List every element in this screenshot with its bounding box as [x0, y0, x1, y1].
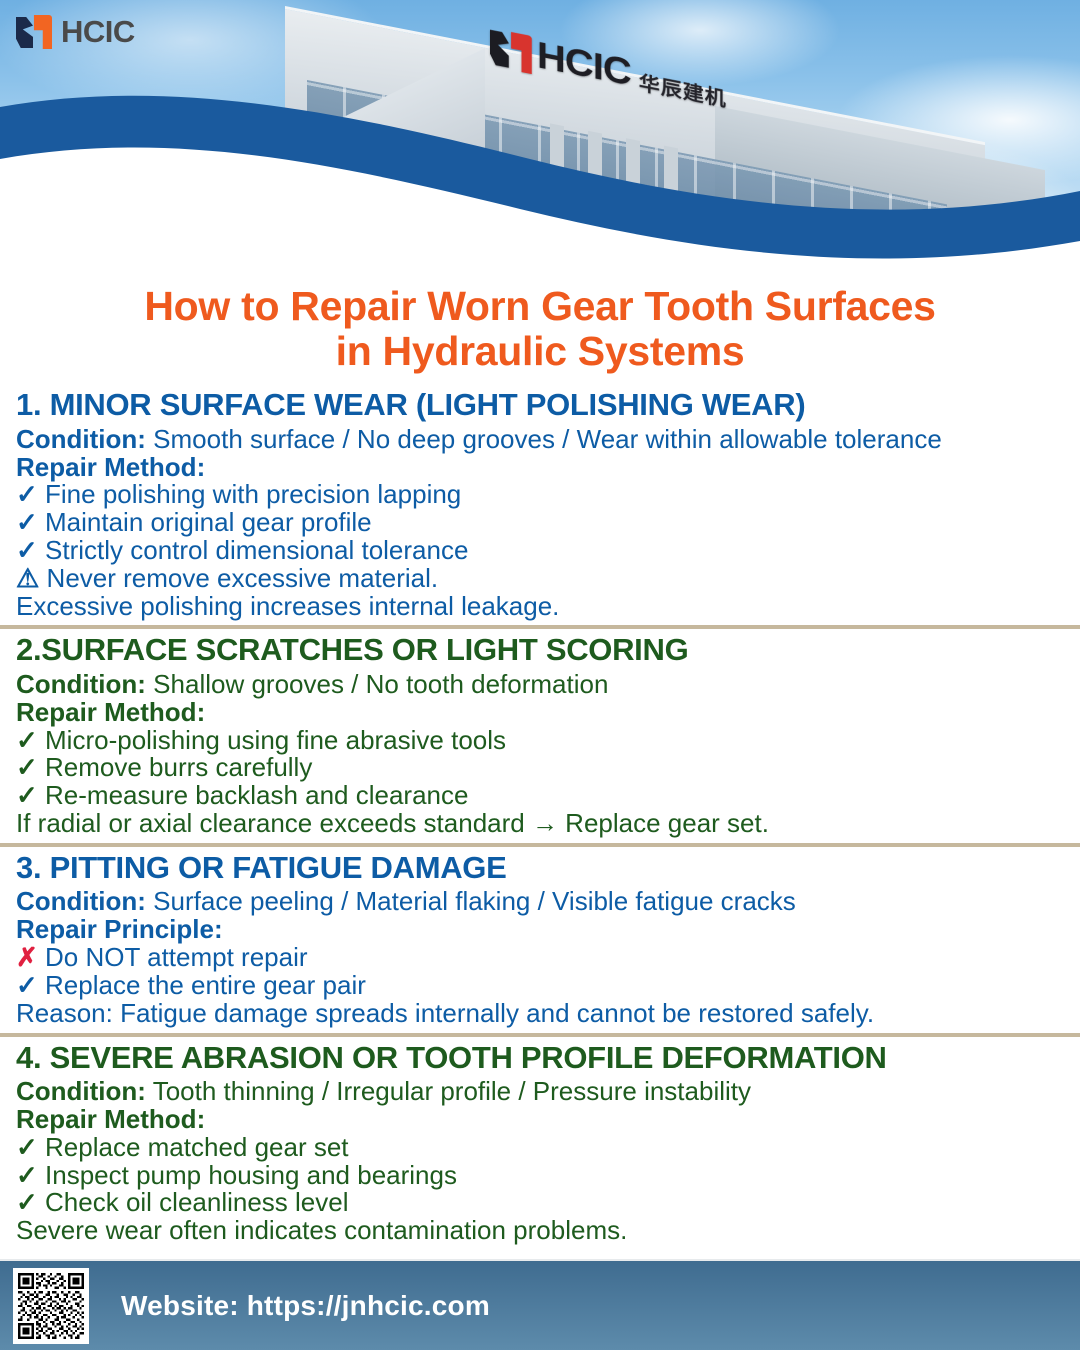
method-item-text: Replace the entire gear pair	[38, 970, 366, 1000]
method-line: Repair Principle:	[16, 916, 1066, 944]
method-item: ✓ Maintain original gear profile	[16, 509, 1066, 537]
method-item: ✓ Replace the entire gear pair	[16, 972, 1066, 1000]
method-item-text: Fine polishing with precision lapping	[38, 479, 461, 509]
method-item-text: Never remove excessive material.	[39, 563, 438, 593]
check-icon: ✓	[16, 481, 38, 509]
page-header: HCIC 华辰建机 HCIC	[0, 0, 1080, 268]
method-line: Repair Method:	[16, 699, 1066, 727]
hcic-wordmark: HCIC	[61, 14, 135, 50]
method-item-text: Do NOT attempt repair	[38, 942, 308, 972]
method-item: ✓ Inspect pump housing and bearings	[16, 1162, 1066, 1190]
condition-text: Shallow grooves / No tooth deformation	[146, 669, 608, 699]
method-label: Repair Principle:	[16, 914, 223, 944]
section-4: 4. SEVERE ABRASION OR TOOTH PROFILE DEFO…	[0, 1033, 1080, 1250]
cross-icon: ✗	[16, 944, 38, 972]
section-2: 2.SURFACE SCRATCHES OR LIGHT SCORINGCond…	[0, 625, 1080, 842]
condition-text: Smooth surface / No deep grooves / Wear …	[146, 424, 942, 454]
section-heading: 4. SEVERE ABRASION OR TOOTH PROFILE DEFO…	[16, 1040, 1066, 1077]
page-title-line2: in Hydraulic Systems	[336, 328, 745, 374]
method-item: ✗ Do NOT attempt repair	[16, 944, 1066, 972]
section-note: If radial or axial clearance exceeds sta…	[16, 810, 1066, 838]
check-icon: ✓	[16, 1134, 38, 1162]
condition-label: Condition:	[16, 669, 146, 699]
method-item-text: Remove burrs carefully	[38, 752, 313, 782]
page-title: How to Repair Worn Gear Tooth Surfaces i…	[0, 268, 1080, 384]
condition-line: Condition: Tooth thinning / Irregular pr…	[16, 1078, 1066, 1106]
check-icon: ✓	[16, 1162, 38, 1190]
method-item: ✓ Strictly control dimensional tolerance	[16, 537, 1066, 565]
method-item-text: Replace matched gear set	[38, 1132, 349, 1162]
method-item-text: Strictly control dimensional tolerance	[38, 535, 469, 565]
method-label: Repair Method:	[16, 1104, 205, 1134]
method-line: Repair Method:	[16, 454, 1066, 482]
method-item: ✓ Replace matched gear set	[16, 1134, 1066, 1162]
method-item-text: Micro-polishing using fine abrasive tool…	[38, 725, 506, 755]
method-label: Repair Method:	[16, 697, 205, 727]
method-item: ✓ Micro-polishing using fine abrasive to…	[16, 727, 1066, 755]
page-footer: Website: https://jnhcic.com	[0, 1259, 1080, 1350]
condition-line: Condition: Smooth surface / No deep groo…	[16, 426, 1066, 454]
check-icon: ✓	[16, 972, 38, 1000]
section-1: 1. MINOR SURFACE WEAR (LIGHT POLISHING W…	[0, 384, 1080, 625]
content-sections: 1. MINOR SURFACE WEAR (LIGHT POLISHING W…	[0, 384, 1080, 1250]
page-title-line1: How to Repair Worn Gear Tooth Surfaces	[144, 283, 935, 329]
condition-text: Surface peeling / Material flaking / Vis…	[146, 886, 796, 916]
hcic-mark-icon	[16, 15, 52, 49]
method-item-text: Inspect pump housing and bearings	[38, 1160, 457, 1190]
condition-text: Tooth thinning / Irregular profile / Pre…	[146, 1076, 751, 1106]
condition-label: Condition:	[16, 1076, 146, 1106]
method-item-text: Re-measure backlash and clearance	[38, 780, 469, 810]
method-label: Repair Method:	[16, 452, 205, 482]
section-heading: 1. MINOR SURFACE WEAR (LIGHT POLISHING W…	[16, 387, 1066, 424]
method-item-text: Maintain original gear profile	[38, 507, 372, 537]
method-item: ✓ Re-measure backlash and clearance	[16, 782, 1066, 810]
method-item: ✓ Check oil cleanliness level	[16, 1189, 1066, 1217]
check-icon: ✓	[16, 509, 38, 537]
check-icon: ✓	[16, 1189, 38, 1217]
check-icon: ✓	[16, 754, 38, 782]
method-item: ✓ Remove burrs carefully	[16, 754, 1066, 782]
condition-label: Condition:	[16, 886, 146, 916]
method-item-text: Check oil cleanliness level	[38, 1187, 349, 1217]
section-heading: 2.SURFACE SCRATCHES OR LIGHT SCORING	[16, 632, 1066, 669]
section-3: 3. PITTING OR FATIGUE DAMAGECondition: S…	[0, 843, 1080, 1033]
section-note: Excessive polishing increases internal l…	[16, 593, 1066, 621]
condition-label: Condition:	[16, 424, 146, 454]
qr-code-icon[interactable]	[13, 1268, 89, 1344]
section-heading: 3. PITTING OR FATIGUE DAMAGE	[16, 850, 1066, 887]
section-note: Severe wear often indicates contaminatio…	[16, 1217, 1066, 1245]
check-icon: ✓	[16, 537, 38, 565]
check-icon: ✓	[16, 782, 38, 810]
condition-line: Condition: Surface peeling / Material fl…	[16, 888, 1066, 916]
condition-line: Condition: Shallow grooves / No tooth de…	[16, 671, 1066, 699]
check-icon: ✓	[16, 727, 38, 755]
method-line: Repair Method:	[16, 1106, 1066, 1134]
website-url[interactable]: Website: https://jnhcic.com	[121, 1290, 490, 1322]
method-item: ⚠ Never remove excessive material.	[16, 565, 1066, 593]
section-note: Reason: Fatigue damage spreads internall…	[16, 1000, 1066, 1028]
blue-wave-divider	[0, 63, 1080, 268]
warning-icon: ⚠	[16, 565, 39, 593]
method-item: ✓ Fine polishing with precision lapping	[16, 481, 1066, 509]
hcic-brand-logo: HCIC	[16, 14, 135, 50]
